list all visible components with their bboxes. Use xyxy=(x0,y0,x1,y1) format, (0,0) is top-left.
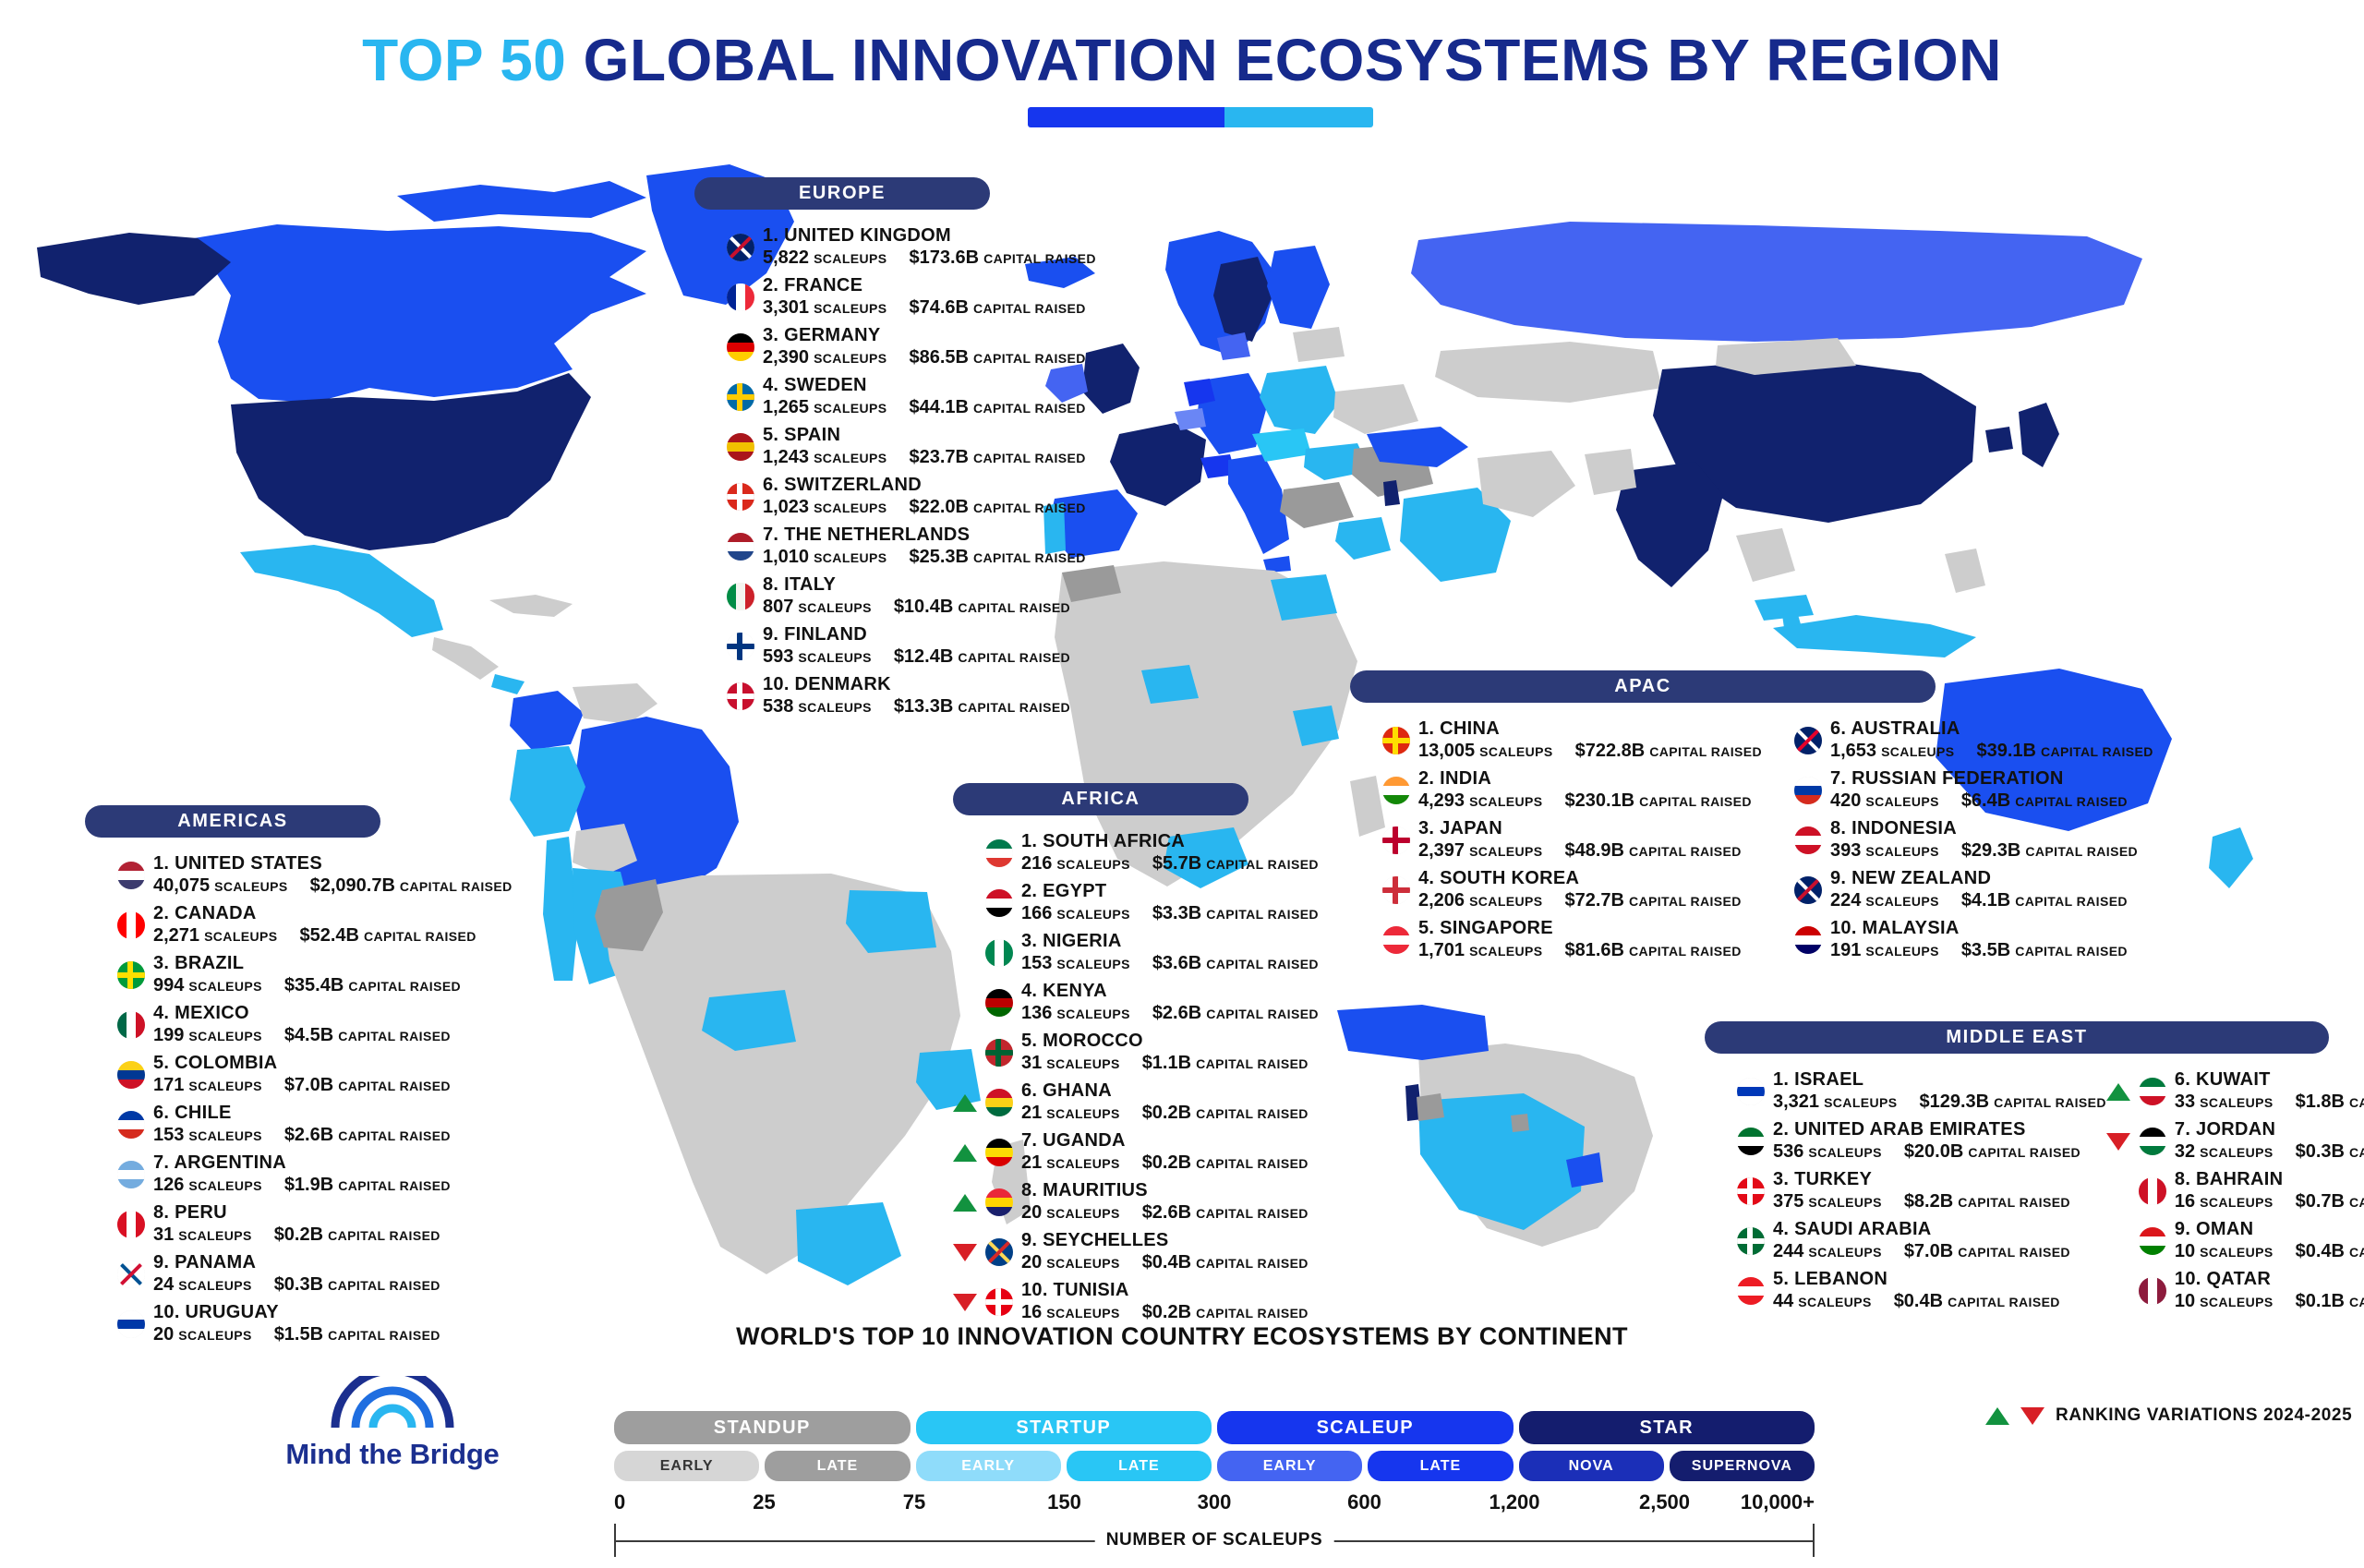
country-stats: 216SCALEUPS$5.7BCAPITAL RAISED xyxy=(1021,853,1319,875)
country-name: 1. ISRAEL xyxy=(1773,1069,2106,1092)
region-rows-apac: 1. CHINA13,005SCALEUPS$722.8BCAPITAL RAI… xyxy=(1350,716,1936,965)
capital-value: $10.4B xyxy=(894,597,954,619)
scaleups-stat: 1,010SCALEUPS xyxy=(763,547,887,569)
country-kazakhstan xyxy=(1435,342,1662,403)
scaleups-value: 16 xyxy=(2175,1191,2195,1213)
stats-gap xyxy=(872,646,894,669)
capital-unit: CAPITAL RAISED xyxy=(958,600,1070,616)
region-panel-americas: AMERICAS 1. UNITED STATES40,075SCALEUPS$… xyxy=(85,805,380,1349)
ranking-row[interactable]: 5. SINGAPORE1,701SCALEUPS$81.6BCAPITAL R… xyxy=(1350,915,1762,965)
scaleups-value: 13,005 xyxy=(1418,741,1475,763)
country-stats: 994SCALEUPS$35.4BCAPITAL RAISED xyxy=(153,975,461,997)
ranking-row[interactable]: 7. THE NETHERLANDS1,010SCALEUPS$25.3BCAP… xyxy=(694,522,1096,572)
capital-stat: $72.7BCAPITAL RAISED xyxy=(1565,890,1742,912)
scaleups-unit: SCALEUPS xyxy=(798,600,871,616)
trend-down-icon xyxy=(953,1294,977,1311)
capital-stat: $74.6BCAPITAL RAISED xyxy=(910,297,1086,320)
ranking-row[interactable]: 1. UNITED KINGDOM5,822SCALEUPS$173.6BCAP… xyxy=(694,223,1096,272)
legend-band-6-nova: NOVA xyxy=(1519,1451,1664,1481)
scaleups-stat: 199SCALEUPS xyxy=(153,1025,262,1047)
stats-gap xyxy=(262,1125,284,1147)
ranking-row[interactable]: 9. OMAN10SCALEUPS$0.4BCAPITAL RAISED xyxy=(2106,1216,2364,1266)
capital-stat: $12.4BCAPITAL RAISED xyxy=(894,646,1070,669)
stats-gap xyxy=(887,297,910,320)
capital-stat: $48.9BCAPITAL RAISED xyxy=(1565,840,1742,862)
scaleups-stat: 3,321SCALEUPS xyxy=(1773,1092,1898,1114)
capital-unit: CAPITAL RAISED xyxy=(1196,1306,1309,1321)
country-info: 5. MOROCCO31SCALEUPS$1.1BCAPITAL RAISED xyxy=(1021,1031,1309,1074)
country-name: 5. COLOMBIA xyxy=(153,1053,451,1075)
country-egypt-main xyxy=(1271,574,1337,621)
scaleups-value: 2,390 xyxy=(763,347,809,369)
scaleups-unit: SCALEUPS xyxy=(188,979,261,995)
scaleups-unit: SCALEUPS xyxy=(1865,894,1938,910)
country-stats: 44SCALEUPS$0.4BCAPITAL RAISED xyxy=(1773,1291,2060,1313)
legend-tick-row: 025751503006001,2002,50010,000+ xyxy=(614,1490,1815,1522)
country-name: 3. NIGERIA xyxy=(1021,931,1319,953)
capital-unit: CAPITAL RAISED xyxy=(1206,957,1319,972)
scaleups-stat: 31SCALEUPS xyxy=(1021,1053,1120,1075)
trend-indicator-up xyxy=(953,1194,977,1212)
flag-icon-ma xyxy=(985,1039,1013,1067)
ranking-row[interactable]: 3. TURKEY375SCALEUPS$8.2BCAPITAL RAISED xyxy=(1705,1166,2106,1216)
country-stats: 593SCALEUPS$12.4BCAPITAL RAISED xyxy=(763,646,1070,669)
capital-stat: $7.0BCAPITAL RAISED xyxy=(284,1075,451,1097)
ranking-row[interactable]: 8. MAURITIUS20SCALEUPS$2.6BCAPITAL RAISE… xyxy=(953,1177,1319,1227)
country-stats: 10SCALEUPS$0.1BCAPITAL RAISED xyxy=(2175,1291,2364,1313)
country-baltics xyxy=(1293,327,1345,362)
ranking-row[interactable]: 4. MEXICO199SCALEUPS$4.5BCAPITAL RAISED xyxy=(85,1000,513,1050)
ranking-row[interactable]: 1. SOUTH AFRICA216SCALEUPS$5.7BCAPITAL R… xyxy=(953,828,1319,878)
capital-value: $1.1B xyxy=(1142,1053,1191,1075)
country-stats: 1,701SCALEUPS$81.6BCAPITAL RAISED xyxy=(1418,940,1742,962)
flag-icon-nz xyxy=(1794,876,1822,904)
stats-gap xyxy=(278,925,300,947)
ranking-row[interactable]: 6. AUSTRALIA1,653SCALEUPS$39.1BCAPITAL R… xyxy=(1762,716,2153,766)
capital-stat: $0.2BCAPITAL RAISED xyxy=(274,1224,440,1247)
capital-value: $48.9B xyxy=(1565,840,1625,862)
ranking-row[interactable]: 6. KUWAIT33SCALEUPS$1.8BCAPITAL RAISED xyxy=(2106,1067,2364,1116)
ranking-row[interactable]: 4. SOUTH KOREA2,206SCALEUPS$72.7BCAPITAL… xyxy=(1350,865,1762,915)
legend-tick-8: 10,000+ xyxy=(1741,1490,1815,1514)
flag-icon-pa xyxy=(117,1260,145,1288)
scaleups-value: 31 xyxy=(153,1224,174,1247)
country-stats: 33SCALEUPS$1.8BCAPITAL RAISED xyxy=(2175,1092,2364,1114)
capital-value: $29.3B xyxy=(1961,840,2021,862)
ranking-row[interactable]: 2. EGYPT166SCALEUPS$3.3BCAPITAL RAISED xyxy=(953,878,1319,928)
scaleups-stat: 191SCALEUPS xyxy=(1830,940,1939,962)
flag-icon-fr xyxy=(727,283,754,311)
capital-stat: $44.1BCAPITAL RAISED xyxy=(910,397,1086,419)
capital-unit: CAPITAL RAISED xyxy=(2349,1195,2364,1211)
scaleups-value: 216 xyxy=(1021,853,1052,875)
ranking-row[interactable]: 10. TUNISIA16SCALEUPS$0.2BCAPITAL RAISED xyxy=(953,1277,1319,1327)
country-central-america xyxy=(432,637,499,680)
scaleups-value: 153 xyxy=(153,1125,184,1147)
scaleups-unit: SCALEUPS xyxy=(178,1228,251,1244)
capital-unit: CAPITAL RAISED xyxy=(338,1128,451,1144)
stats-gap xyxy=(2274,1092,2296,1114)
scaleups-unit: SCALEUPS xyxy=(1798,1295,1871,1310)
capital-unit: CAPITAL RAISED xyxy=(1629,944,1742,959)
ranking-row[interactable]: 9. FINLAND593SCALEUPS$12.4BCAPITAL RAISE… xyxy=(694,621,1096,671)
ranking-row[interactable]: 10. MALAYSIA191SCALEUPS$3.5BCAPITAL RAIS… xyxy=(1762,915,2153,965)
country-name: 5. LEBANON xyxy=(1773,1269,2060,1291)
capital-unit: CAPITAL RAISED xyxy=(973,301,1086,317)
country-info: 10. MALAYSIA191SCALEUPS$3.5BCAPITAL RAIS… xyxy=(1830,918,2128,961)
country-name: 6. SWITZERLAND xyxy=(763,475,1086,497)
scaleups-stat: 2,390SCALEUPS xyxy=(763,347,887,369)
capital-unit: CAPITAL RAISED xyxy=(1629,844,1742,860)
ranking-row[interactable]: 2. UNITED ARAB EMIRATES536SCALEUPS$20.0B… xyxy=(1705,1116,2106,1166)
ranking-row[interactable]: 6. CHILE153SCALEUPS$2.6BCAPITAL RAISED xyxy=(85,1100,513,1150)
scaleups-value: 1,243 xyxy=(763,447,809,469)
flag-icon-kw xyxy=(2139,1078,2166,1105)
flag-icon-cl xyxy=(117,1111,145,1139)
scaleups-unit: SCALEUPS xyxy=(2200,1295,2273,1310)
capital-value: $4.1B xyxy=(1961,890,2010,912)
country-name: 8. ITALY xyxy=(763,574,1070,597)
capital-value: $230.1B xyxy=(1565,790,1635,813)
stats-gap xyxy=(2274,1241,2296,1263)
country-info: 8. ITALY807SCALEUPS$10.4BCAPITAL RAISED xyxy=(763,574,1070,618)
country-sicily xyxy=(1263,556,1291,573)
ranking-row[interactable]: 4. SAUDI ARABIA244SCALEUPS$7.0BCAPITAL R… xyxy=(1705,1216,2106,1266)
scaleups-value: 1,701 xyxy=(1418,940,1465,962)
legend-tick-2: 75 xyxy=(903,1490,925,1514)
ranking-row[interactable]: 1. CHINA13,005SCALEUPS$722.8BCAPITAL RAI… xyxy=(1350,716,1762,766)
capital-value: $4.5B xyxy=(284,1025,333,1047)
stats-gap xyxy=(1543,790,1565,813)
country-stats: 24SCALEUPS$0.3BCAPITAL RAISED xyxy=(153,1274,440,1297)
ranking-row[interactable]: 2. CANADA2,271SCALEUPS$52.4BCAPITAL RAIS… xyxy=(85,900,513,950)
capital-unit: CAPITAL RAISED xyxy=(1948,1295,2060,1310)
capital-value: $0.2B xyxy=(1142,1302,1191,1324)
capital-stat: $86.5BCAPITAL RAISED xyxy=(910,347,1086,369)
country-poland xyxy=(1260,366,1339,434)
bridge-arcs-icon xyxy=(277,1376,508,1429)
scaleups-value: 1,023 xyxy=(763,497,809,519)
region-panel-europe: EUROPE 1. UNITED KINGDOM5,822SCALEUPS$17… xyxy=(694,177,990,721)
country-info: 8. MAURITIUS20SCALEUPS$2.6BCAPITAL RAISE… xyxy=(1021,1180,1309,1224)
scaleups-value: 375 xyxy=(1773,1191,1803,1213)
flag-icon-om xyxy=(2139,1227,2166,1255)
country-mexico xyxy=(240,545,443,637)
scaleups-value: 393 xyxy=(1830,840,1861,862)
ranking-row[interactable]: 7. JORDAN32SCALEUPS$0.3BCAPITAL RAISED xyxy=(2106,1116,2364,1166)
flag-icon-dk xyxy=(727,682,754,710)
ranking-row[interactable]: 3. JAPAN2,397SCALEUPS$48.9BCAPITAL RAISE… xyxy=(1350,815,1762,865)
stats-gap xyxy=(1543,840,1565,862)
ranking-row[interactable]: 8. INDONESIA393SCALEUPS$29.3BCAPITAL RAI… xyxy=(1762,815,2153,865)
capital-stat: $129.3BCAPITAL RAISED xyxy=(1920,1092,2106,1114)
country-info: 9. FINLAND593SCALEUPS$12.4BCAPITAL RAISE… xyxy=(763,624,1070,668)
scaleups-unit: SCALEUPS xyxy=(1046,1106,1119,1122)
scaleups-unit: SCALEUPS xyxy=(1056,957,1129,972)
country-peru xyxy=(510,746,585,837)
stats-gap xyxy=(1120,1252,1142,1274)
region-column: 1. UNITED STATES40,075SCALEUPS$2,090.7BC… xyxy=(85,850,513,1349)
legend-band-row: EARLYLATEEARLYLATEEARLYLATENOVASUPERNOVA xyxy=(614,1451,1815,1481)
country-stats: 4,293SCALEUPS$230.1BCAPITAL RAISED xyxy=(1418,790,1752,813)
country-stats: 20SCALEUPS$2.6BCAPITAL RAISED xyxy=(1021,1202,1309,1224)
region-header-americas: AMERICAS xyxy=(85,805,380,838)
scaleups-unit: SCALEUPS xyxy=(1808,1145,1881,1161)
scaleups-unit: SCALEUPS xyxy=(2200,1095,2273,1111)
scaleups-unit: SCALEUPS xyxy=(2200,1245,2273,1260)
ranking-row[interactable]: 9. SEYCHELLES20SCALEUPS$0.4BCAPITAL RAIS… xyxy=(953,1227,1319,1277)
country-name: 6. KUWAIT xyxy=(2175,1069,2364,1092)
scaleups-unit: SCALEUPS xyxy=(1469,794,1542,810)
ranking-row[interactable]: 8. ITALY807SCALEUPS$10.4BCAPITAL RAISED xyxy=(694,572,1096,621)
capital-value: $0.4B xyxy=(1142,1252,1191,1274)
scaleups-unit: SCALEUPS xyxy=(1469,894,1542,910)
scaleups-value: 153 xyxy=(1021,953,1052,975)
capital-value: $129.3B xyxy=(1920,1092,1990,1114)
ranking-row[interactable]: 7. ARGENTINA126SCALEUPS$1.9BCAPITAL RAIS… xyxy=(85,1150,513,1200)
scaleups-stat: 538SCALEUPS xyxy=(763,696,872,718)
ranking-row[interactable]: 6. SWITZERLAND1,023SCALEUPS$22.0BCAPITAL… xyxy=(694,472,1096,522)
stats-gap xyxy=(1872,1291,1894,1313)
stats-gap xyxy=(887,247,910,270)
region-header-apac: APAC xyxy=(1350,670,1936,703)
country-stats: 1,265SCALEUPS$44.1BCAPITAL RAISED xyxy=(763,397,1086,419)
country-info: 1. SOUTH AFRICA216SCALEUPS$5.7BCAPITAL R… xyxy=(1021,831,1319,874)
flag-icon-ru xyxy=(1794,777,1822,804)
capital-value: $3.5B xyxy=(1961,940,2010,962)
scaleups-unit: SCALEUPS xyxy=(1469,844,1542,860)
scaleups-unit: SCALEUPS xyxy=(188,1079,261,1094)
capital-unit: CAPITAL RAISED xyxy=(2349,1295,2364,1310)
capital-value: $2.6B xyxy=(1142,1202,1191,1224)
country-name: 4. MEXICO xyxy=(153,1003,451,1025)
stats-gap xyxy=(887,397,910,419)
capital-unit: CAPITAL RAISED xyxy=(983,251,1096,267)
capital-unit: CAPITAL RAISED xyxy=(958,700,1070,716)
ranking-row[interactable]: 4. KENYA136SCALEUPS$2.6BCAPITAL RAISED xyxy=(953,978,1319,1028)
country-info: 8. BAHRAIN16SCALEUPS$0.7BCAPITAL RAISED xyxy=(2175,1169,2364,1212)
scaleups-stat: 244SCALEUPS xyxy=(1773,1241,1882,1263)
trend-indicator-up xyxy=(2106,1083,2130,1101)
capital-unit: CAPITAL RAISED xyxy=(973,451,1086,466)
ranking-row[interactable]: 3. GERMANY2,390SCALEUPS$86.5BCAPITAL RAI… xyxy=(694,322,1096,372)
country-info: 5. SINGAPORE1,701SCALEUPS$81.6BCAPITAL R… xyxy=(1418,918,1742,961)
scaleups-unit: SCALEUPS xyxy=(1056,1007,1129,1022)
ranking-row[interactable]: 9. PANAMA24SCALEUPS$0.3BCAPITAL RAISED xyxy=(85,1249,513,1299)
capital-stat: $1.1BCAPITAL RAISED xyxy=(1142,1053,1309,1075)
flag-icon-ng xyxy=(985,939,1013,967)
ranking-row[interactable]: 10. QATAR10SCALEUPS$0.1BCAPITAL RAISED xyxy=(2106,1266,2364,1316)
country-name: 2. FRANCE xyxy=(763,275,1086,297)
country-name: 10. TUNISIA xyxy=(1021,1280,1309,1302)
country-info: 7. ARGENTINA126SCALEUPS$1.9BCAPITAL RAIS… xyxy=(153,1152,451,1196)
country-name: 4. SOUTH KOREA xyxy=(1418,868,1742,890)
ranking-row[interactable]: 8. BAHRAIN16SCALEUPS$0.7BCAPITAL RAISED xyxy=(2106,1166,2364,1216)
country-info: 5. SPAIN1,243SCALEUPS$23.7BCAPITAL RAISE… xyxy=(763,425,1086,468)
scaleups-unit: SCALEUPS xyxy=(814,501,886,516)
capital-stat: $22.0BCAPITAL RAISED xyxy=(910,497,1086,519)
scaleups-unit: SCALEUPS xyxy=(188,1029,261,1044)
country-stats: 10SCALEUPS$0.4BCAPITAL RAISED xyxy=(2175,1241,2364,1263)
flag-icon-ug xyxy=(985,1139,1013,1166)
country-info: 3. TURKEY375SCALEUPS$8.2BCAPITAL RAISED xyxy=(1773,1169,2070,1212)
legend-tick-0: 0 xyxy=(614,1490,625,1514)
country-stats: 3,321SCALEUPS$129.3BCAPITAL RAISED xyxy=(1773,1092,2106,1114)
legend-band-2-early: EARLY xyxy=(916,1451,1061,1481)
capital-value: $173.6B xyxy=(910,247,980,270)
scaleups-unit: SCALEUPS xyxy=(1469,944,1542,959)
flag-icon-fi xyxy=(727,633,754,660)
ranking-row[interactable]: 7. RUSSIAN FEDERATION420SCALEUPS$6.4BCAP… xyxy=(1762,766,2153,815)
stats-gap xyxy=(2274,1291,2296,1313)
scaleups-value: 1,010 xyxy=(763,547,809,569)
country-info: 3. GERMANY2,390SCALEUPS$86.5BCAPITAL RAI… xyxy=(763,325,1086,368)
capital-unit: CAPITAL RAISED xyxy=(2025,844,2138,860)
country-name: 7. UGANDA xyxy=(1021,1130,1309,1152)
country-stats: 536SCALEUPS$20.0BCAPITAL RAISED xyxy=(1773,1141,2081,1164)
capital-stat: $10.4BCAPITAL RAISED xyxy=(894,597,1070,619)
scaleups-stat: 224SCALEUPS xyxy=(1830,890,1939,912)
stats-gap xyxy=(1120,1202,1142,1224)
scaleups-value: 1,653 xyxy=(1830,741,1876,763)
capital-value: $1.9B xyxy=(284,1175,333,1197)
ranking-row[interactable]: 3. BRAZIL994SCALEUPS$35.4BCAPITAL RAISED xyxy=(85,950,513,1000)
scaleups-value: 31 xyxy=(1021,1053,1042,1075)
scaleups-stat: 2,397SCALEUPS xyxy=(1418,840,1543,862)
capital-value: $0.4B xyxy=(2296,1241,2345,1263)
capital-unit: CAPITAL RAISED xyxy=(2015,794,2128,810)
country-info: 1. UNITED STATES40,075SCALEUPS$2,090.7BC… xyxy=(153,853,513,897)
capital-stat: $35.4BCAPITAL RAISED xyxy=(284,975,461,997)
country-info: 9. NEW ZEALAND224SCALEUPS$4.1BCAPITAL RA… xyxy=(1830,868,2128,911)
trend-indicator-down xyxy=(2106,1133,2130,1151)
flag-icon-mx xyxy=(117,1011,145,1039)
country-stats: 171SCALEUPS$7.0BCAPITAL RAISED xyxy=(153,1075,451,1097)
stats-gap xyxy=(1939,940,1961,962)
capital-unit: CAPITAL RAISED xyxy=(2015,894,2128,910)
country-stats: 807SCALEUPS$10.4BCAPITAL RAISED xyxy=(763,597,1070,619)
capital-unit: CAPITAL RAISED xyxy=(1958,1195,2070,1211)
scaleups-unit: SCALEUPS xyxy=(2200,1145,2273,1161)
flag-icon-gb xyxy=(727,234,754,261)
country-name: 8. INDONESIA xyxy=(1830,818,2138,840)
country-info: 4. SWEDEN1,265SCALEUPS$44.1BCAPITAL RAIS… xyxy=(763,375,1086,418)
ranking-row[interactable]: 5. LEBANON44SCALEUPS$0.4BCAPITAL RAISED xyxy=(1705,1266,2106,1316)
legend-band-3-late: LATE xyxy=(1067,1451,1212,1481)
ranking-row[interactable]: 4. SWEDEN1,265SCALEUPS$44.1BCAPITAL RAIS… xyxy=(694,372,1096,422)
capital-stat: $1.9BCAPITAL RAISED xyxy=(284,1175,451,1197)
flag-icon-ae xyxy=(1737,1128,1765,1155)
capital-unit: CAPITAL RAISED xyxy=(1994,1095,2106,1111)
scaleups-stat: 20SCALEUPS xyxy=(1021,1202,1120,1224)
country-stats: 31SCALEUPS$0.2BCAPITAL RAISED xyxy=(153,1224,440,1247)
capital-stat: $2.6BCAPITAL RAISED xyxy=(1142,1202,1309,1224)
country-name: 6. CHILE xyxy=(153,1103,451,1125)
stats-gap xyxy=(872,696,894,718)
country-stats: 16SCALEUPS$0.7BCAPITAL RAISED xyxy=(2175,1191,2364,1213)
country-name: 8. PERU xyxy=(153,1202,440,1224)
region-column: 1. UNITED KINGDOM5,822SCALEUPS$173.6BCAP… xyxy=(694,223,1096,721)
ranking-row[interactable]: 10. DENMARK538SCALEUPS$13.3BCAPITAL RAIS… xyxy=(694,671,1096,721)
region-panel-middle-east: MIDDLE EAST 1. ISRAEL3,321SCALEUPS$129.3… xyxy=(1705,1021,2329,1316)
ranking-row[interactable]: 5. MOROCCO31SCALEUPS$1.1BCAPITAL RAISED xyxy=(953,1028,1319,1078)
country-stats: 153SCALEUPS$3.6BCAPITAL RAISED xyxy=(1021,953,1319,975)
country-info: 3. JAPAN2,397SCALEUPS$48.9BCAPITAL RAISE… xyxy=(1418,818,1742,862)
country-south-korea xyxy=(1985,427,2013,452)
region-column: 6. KUWAIT33SCALEUPS$1.8BCAPITAL RAISED7.… xyxy=(2106,1067,2364,1316)
country-info: 5. LEBANON44SCALEUPS$0.4BCAPITAL RAISED xyxy=(1773,1269,2060,1312)
ranking-row[interactable]: 2. FRANCE3,301SCALEUPS$74.6BCAPITAL RAIS… xyxy=(694,272,1096,322)
ranking-row[interactable]: 1. ISRAEL3,321SCALEUPS$129.3BCAPITAL RAI… xyxy=(1705,1067,2106,1116)
country-name: 3. TURKEY xyxy=(1773,1169,2070,1191)
mind-the-bridge-logo: Mind the Bridge xyxy=(277,1376,508,1471)
country-name: 8. BAHRAIN xyxy=(2175,1169,2364,1191)
ranking-row[interactable]: 5. COLOMBIA171SCALEUPS$7.0BCAPITAL RAISE… xyxy=(85,1050,513,1100)
scaleups-unit: SCALEUPS xyxy=(1046,1306,1119,1321)
capital-stat: $20.0BCAPITAL RAISED xyxy=(1904,1141,2081,1164)
trend-down-icon xyxy=(953,1244,977,1261)
capital-stat: $0.3BCAPITAL RAISED xyxy=(274,1274,440,1297)
scaleups-stat: 44SCALEUPS xyxy=(1773,1291,1872,1313)
capital-stat: $8.2BCAPITAL RAISED xyxy=(1904,1191,2070,1213)
me-inset-syria xyxy=(1417,1093,1444,1121)
capital-unit: CAPITAL RAISED xyxy=(2015,944,2128,959)
stats-gap xyxy=(262,975,284,997)
country-info: 2. CANADA2,271SCALEUPS$52.4BCAPITAL RAIS… xyxy=(153,903,476,947)
capital-stat: $39.1BCAPITAL RAISED xyxy=(1977,741,2153,763)
scaleups-unit: SCALEUPS xyxy=(1865,944,1938,959)
country-info: 6. KUWAIT33SCALEUPS$1.8BCAPITAL RAISED xyxy=(2175,1069,2364,1113)
legend-band-4-early: EARLY xyxy=(1217,1451,1362,1481)
ranking-row[interactable]: 3. NIGERIA153SCALEUPS$3.6BCAPITAL RAISED xyxy=(953,928,1319,978)
ranking-row[interactable]: 9. NEW ZEALAND224SCALEUPS$4.1BCAPITAL RA… xyxy=(1762,865,2153,915)
scaleups-unit: SCALEUPS xyxy=(1046,1056,1119,1072)
scaleups-unit: SCALEUPS xyxy=(798,700,871,716)
scaleups-stat: 10SCALEUPS xyxy=(2175,1241,2274,1263)
capital-value: $81.6B xyxy=(1565,940,1625,962)
flag-icon-ar xyxy=(117,1161,145,1188)
legend-tick-7: 2,500 xyxy=(1639,1490,1690,1514)
scaleups-value: 10 xyxy=(2175,1241,2195,1263)
stats-gap xyxy=(887,547,910,569)
ranking-row[interactable]: 1. UNITED STATES40,075SCALEUPS$2,090.7BC… xyxy=(85,850,513,900)
scaleups-value: 20 xyxy=(1021,1202,1042,1224)
country-finland xyxy=(1267,246,1330,329)
capital-stat: $0.7BCAPITAL RAISED xyxy=(2296,1191,2364,1213)
scaleups-value: 21 xyxy=(1021,1152,1042,1175)
ranking-row[interactable]: 8. PERU31SCALEUPS$0.2BCAPITAL RAISED xyxy=(85,1200,513,1249)
scaleups-stat: 16SCALEUPS xyxy=(1021,1302,1120,1324)
trend-up-icon xyxy=(953,1144,977,1162)
country-name: 5. SINGAPORE xyxy=(1418,918,1742,940)
country-stats: 166SCALEUPS$3.3BCAPITAL RAISED xyxy=(1021,903,1319,925)
bottom-caption: WORLD'S TOP 10 INNOVATION COUNTRY ECOSYS… xyxy=(0,1322,2364,1351)
country-info: 4. SAUDI ARABIA244SCALEUPS$7.0BCAPITAL R… xyxy=(1773,1219,2070,1262)
region-rows-middle-east: 1. ISRAEL3,321SCALEUPS$129.3BCAPITAL RAI… xyxy=(1705,1067,2329,1316)
scaleups-value: 24 xyxy=(153,1274,174,1297)
country-name: 4. SAUDI ARABIA xyxy=(1773,1219,2070,1241)
ranking-row[interactable]: 2. INDIA4,293SCALEUPS$230.1BCAPITAL RAIS… xyxy=(1350,766,1762,815)
capital-stat: $5.7BCAPITAL RAISED xyxy=(1152,853,1319,875)
scaleups-unit: SCALEUPS xyxy=(814,550,886,566)
capital-unit: CAPITAL RAISED xyxy=(364,929,476,945)
ranking-row[interactable]: 6. GHANA21SCALEUPS$0.2BCAPITAL RAISED xyxy=(953,1078,1319,1128)
ranking-row[interactable]: 7. UGANDA21SCALEUPS$0.2BCAPITAL RAISED xyxy=(953,1128,1319,1177)
country-info: 4. SOUTH KOREA2,206SCALEUPS$72.7BCAPITAL… xyxy=(1418,868,1742,911)
ranking-row[interactable]: 5. SPAIN1,243SCALEUPS$23.7BCAPITAL RAISE… xyxy=(694,422,1096,472)
scaleups-value: 994 xyxy=(153,975,184,997)
scaleups-value: 224 xyxy=(1830,890,1861,912)
